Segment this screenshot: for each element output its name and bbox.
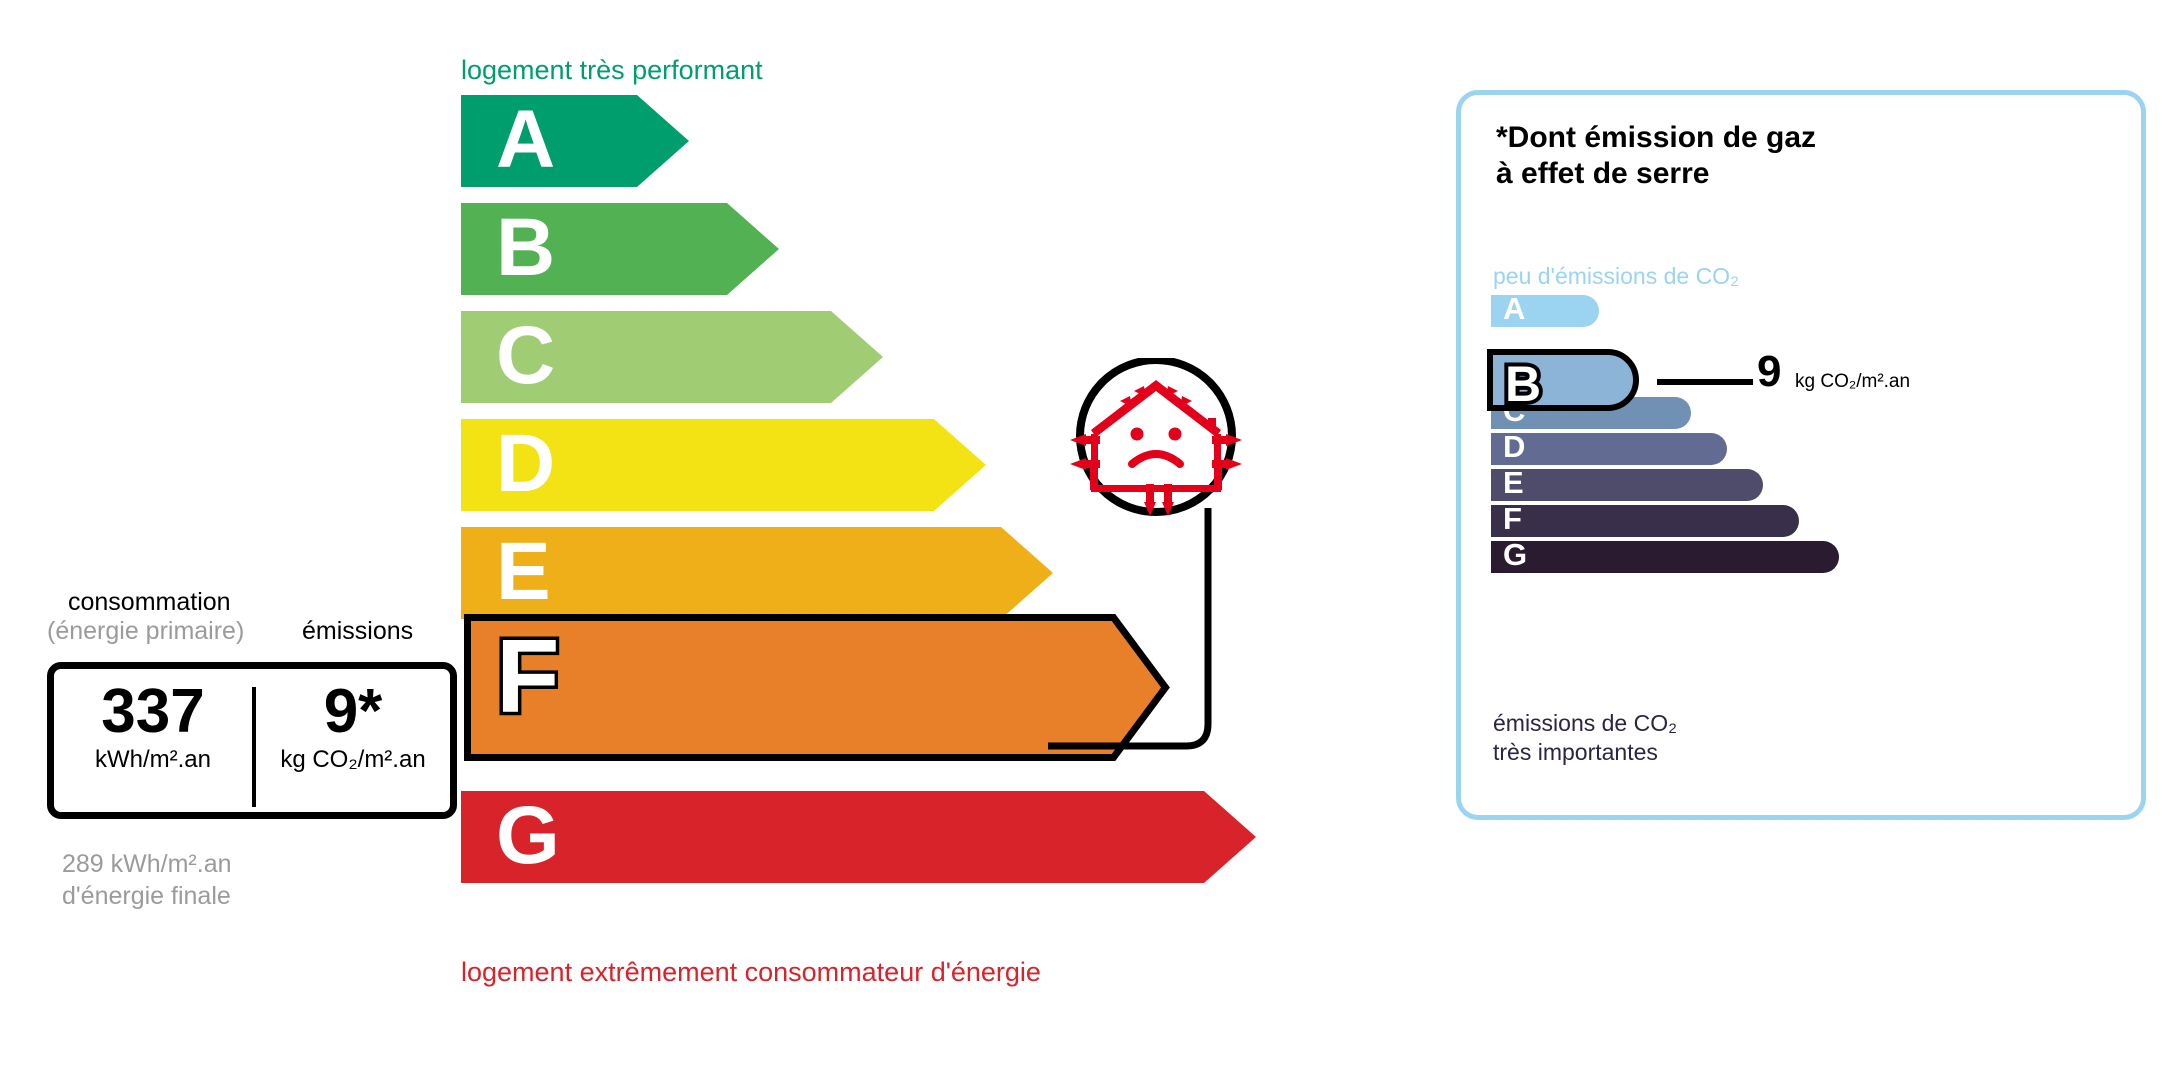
co2-bottom-line2: très importantes [1493,738,1677,767]
co2-panel-title: *Dont émission de gaz à effet de serre [1496,120,1816,192]
co2-grade-letter: A [1503,293,1525,325]
energy-grade-letter: F [496,625,560,729]
final-energy-note: 289 kWh/m².an d'énergie finale [62,848,232,912]
energy-grade-letter: E [496,531,551,613]
co2-grade-letter: G [1503,539,1527,571]
energy-grade-bar-g: G [461,791,1256,883]
co2-top-label: peu d'émissions de CO₂ [1493,263,1739,290]
co2-grade-bar-g: G [1491,541,1839,573]
value-box: 337 kWh/m².an 9* kg CO₂/m².an [47,662,457,819]
consumption-subheader: (énergie primaire) [47,617,244,646]
co2-grade-letter: E [1503,467,1524,499]
emissions-unit: kg CO₂/m².an [256,746,450,774]
co2-bottom-label: émissions de CO₂ très importantes [1493,709,1677,767]
energy-grade-letter: C [496,315,555,397]
energy-grade-bar-a: A [461,95,689,187]
co2-leader-line [1657,379,1753,385]
co2-emissions-panel: *Dont émission de gaz à effet de serre p… [1456,90,2146,820]
co2-title-line1: *Dont émission de gaz [1496,120,1816,156]
co2-selected-grade-letter: B [1505,359,1541,409]
co2-value: 9 [1757,347,1781,397]
energy-grade-bar-e: E [461,527,1053,619]
energy-grade-bar-c: C [461,311,883,403]
scale-top-label: logement très performant [461,55,763,86]
energy-grade-bar-b: B [461,203,779,295]
energy-grade-bar-d: D [461,419,986,511]
final-energy-line1: 289 kWh/m².an [62,848,232,880]
consumption-unit: kWh/m².an [54,746,252,774]
co2-title-line2: à effet de serre [1496,156,1816,192]
emissions-cell: 9* kg CO₂/m².an [256,679,450,774]
energy-performance-scale: logement très performant ABCDEFG logemen… [0,0,1300,1079]
co2-grade-letter: F [1503,503,1522,535]
consumption-header: consommation [68,588,231,617]
energy-grade-letter: G [496,795,560,877]
co2-value-unit: kg CO₂/m².an [1795,371,1910,393]
co2-bottom-line1: émissions de CO₂ [1493,709,1677,738]
co2-grade-bar-a: A [1491,295,1599,327]
co2-grade-letter: D [1503,431,1525,463]
co2-grade-bar-f: F [1491,505,1799,537]
sad-house-marker [1048,358,1264,778]
co2-grade-bar-selected: B [1487,349,1639,411]
energy-grade-letter: B [496,207,555,289]
emissions-header: émissions [302,617,413,646]
consumption-cell: 337 kWh/m².an [54,679,252,774]
energy-grade-letter: A [496,99,555,181]
scale-bottom-label: logement extrêmement consommateur d'éner… [461,957,1041,988]
final-energy-line2: d'énergie finale [62,880,232,912]
emissions-value: 9* [256,679,450,744]
co2-grade-bar-d: D [1491,433,1727,465]
consumption-value: 337 [54,679,252,744]
energy-grade-letter: D [496,423,555,505]
co2-grade-bar-e: E [1491,469,1763,501]
